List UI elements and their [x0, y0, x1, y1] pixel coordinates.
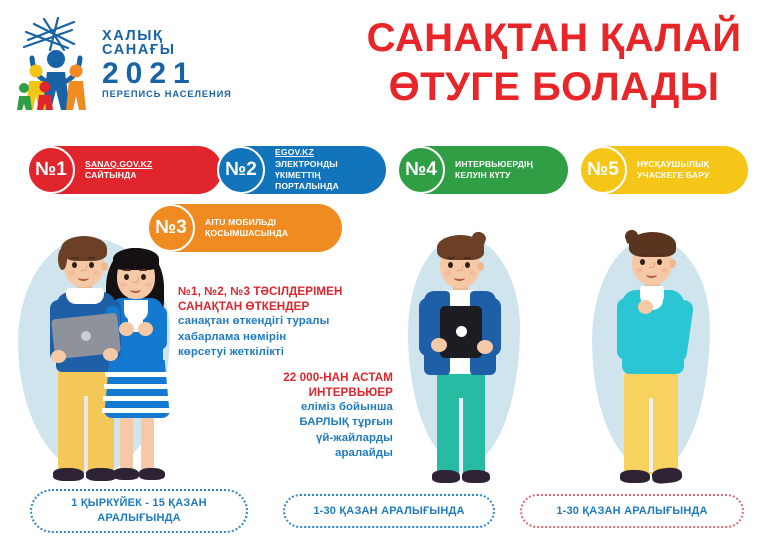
method-line2-1: САЙТЫНДА — [85, 170, 137, 180]
woman1-stripe — [103, 396, 171, 401]
copy2-body-1: еліміз бойынша — [178, 400, 393, 415]
method-line2-5: НҰСҚАУШЫЛЫҚ — [637, 159, 709, 169]
method-badge-5[interactable]: №5 НҰСҚАУШЫЛЫҚ УЧАСКЕГЕ БАРУ — [580, 146, 748, 194]
method-label-1: SANAQ.GOV.KZ САЙТЫНДА — [76, 159, 160, 182]
method-number-2: №2 — [217, 146, 265, 194]
woman1-leg-right — [141, 416, 154, 472]
man3-face — [632, 240, 672, 285]
method-number-1: №1 — [27, 146, 75, 194]
copy1-body-2: хабарлама нөмірін — [178, 330, 393, 345]
logo-year: 2021 — [102, 59, 239, 89]
woman1-leg-left — [120, 416, 133, 472]
man3-leg-split — [649, 398, 653, 472]
man1-hand-right — [103, 348, 118, 361]
woman1-stripe — [104, 384, 170, 389]
woman1-face — [117, 255, 155, 299]
method-number-5: №5 — [579, 146, 627, 194]
man2-shoe-left — [432, 470, 460, 483]
man2-hand-right — [477, 340, 493, 354]
method-line2-4: ИНТЕРВЬЮЕРДІҢ — [455, 159, 533, 169]
tablet-icon — [440, 306, 482, 358]
copy-block-1: №1, №2, №3 ТӘСІЛДЕРІМЕН САНАҚТАН ӨТКЕНДЕ… — [178, 284, 393, 361]
method-link-1[interactable]: SANAQ.GOV.KZ — [85, 159, 152, 169]
man1-face — [64, 243, 104, 288]
man3-hand-left — [638, 300, 653, 314]
method-number-3: №3 — [147, 204, 195, 252]
date-pill-3-text: 1-30 ҚАЗАН АРАЛЫҒЫНДА — [556, 504, 707, 519]
method-badge-3[interactable]: №3 AITU МОБИЛЬДІ ҚОСЫМШАСЫНДА — [148, 204, 342, 252]
copy2-body-4: аралайды — [178, 446, 393, 461]
title-line-1: САНАҚТАН ҚАЛАЙ — [352, 14, 756, 63]
man2-leg-split — [459, 398, 463, 474]
method-link-2[interactable]: EGOV.KZ — [275, 147, 314, 157]
method-label-4: ИНТЕРВЬЮЕРДІҢ КЕЛУІН КҮТУ — [446, 159, 541, 182]
man2-face — [440, 243, 480, 288]
copy2-body-2: БАРЛЫҚ тұрғын — [178, 415, 393, 430]
method-line3-3: ҚОСЫМШАСЫНДА — [205, 228, 288, 238]
logo-line-1: ХАЛЫҚ САНАҒЫ — [102, 29, 239, 58]
woman1-stripe — [105, 372, 169, 377]
method-label-2: EGOV.KZ ЭЛЕКТРОНДЫ ҮКІМЕТТІҢ ПОРТАЛЫНДА — [266, 147, 347, 193]
man1-hand-left — [51, 350, 66, 363]
woman1-shoe-right — [139, 468, 165, 480]
method-line4-2: ПОРТАЛЫНДА — [275, 181, 339, 191]
logo-line-3: ПЕРЕПИСЬ НАСЕЛЕНИЯ — [102, 90, 239, 99]
copy2-body-3: үй-жайларды — [178, 431, 393, 446]
man3-shoe-left — [620, 470, 650, 483]
man3-arm-left — [617, 298, 635, 360]
date-pill-1: 1 ҚЫРКҮЙЕК - 15 ҚАЗАНАРАЛЫҒЫНДА — [30, 489, 248, 533]
copy1-head-1: №1, №2, №3 ТӘСІЛДЕРІМЕН — [178, 284, 393, 299]
method-line2-3: AITU МОБИЛЬДІ — [205, 217, 276, 227]
man2-shoe-right — [462, 470, 490, 483]
man2-hand-left — [431, 338, 447, 352]
woman1-hand-left — [119, 322, 134, 336]
date-pill-2-text: 1-30 ҚАЗАН АРАЛЫҒЫНДА — [313, 504, 464, 519]
man1-leg-split — [84, 396, 88, 472]
man3-shoe-right — [651, 466, 682, 484]
infographic-canvas: ХАЛЫҚ САНАҒЫ 2021 ПЕРЕПИСЬ НАСЕЛЕНИЯ САН… — [0, 0, 768, 543]
method-number-4: №4 — [397, 146, 445, 194]
census-family-logo-icon — [14, 14, 98, 114]
man1-shoe-left — [53, 468, 84, 481]
body-copy: №1, №2, №3 ТӘСІЛДЕРІМЕН САНАҚТАН ӨТКЕНДЕ… — [178, 284, 393, 462]
date-pill-3: 1-30 ҚАЗАН АРАЛЫҒЫНДА — [520, 494, 744, 528]
man1-collar — [66, 288, 104, 304]
logo-wordmark: ХАЛЫҚ САНАҒЫ 2021 ПЕРЕПИСЬ НАСЕЛЕНИЯ — [102, 29, 239, 99]
copy1-body-3: көрсетуі жеткілікті — [178, 345, 393, 360]
date-pill-2: 1-30 ҚАЗАН АРАЛЫҒЫНДА — [283, 494, 495, 528]
date-pill-1-text: 1 ҚЫРКҮЙЕК - 15 ҚАЗАНАРАЛЫҒЫНДА — [71, 496, 207, 526]
method-badge-2[interactable]: №2 EGOV.KZ ЭЛЕКТРОНДЫ ҮКІМЕТТІҢ ПОРТАЛЫН… — [218, 146, 386, 194]
method-label-5: НҰСҚАУШЫЛЫҚ УЧАСКЕГЕ БАРУ — [628, 159, 718, 182]
method-line3-2: ҮКІМЕТТІҢ — [275, 170, 321, 180]
method-badge-4[interactable]: №4 ИНТЕРВЬЮЕРДІҢ КЕЛУІН КҮТУ — [398, 146, 568, 194]
woman1-hand-right — [138, 322, 153, 336]
woman1-shoe-left — [113, 468, 139, 480]
method-line3-5: УЧАСКЕГЕ БАРУ — [637, 170, 710, 180]
census-logo: ХАЛЫҚ САНАҒЫ 2021 ПЕРЕПИСЬ НАСЕЛЕНИЯ — [14, 12, 239, 116]
method-line3-4: КЕЛУІН КҮТУ — [455, 170, 511, 180]
copy1-head-2: САНАҚТАН ӨТКЕНДЕР — [178, 299, 393, 314]
copy2-head-1: 22 000-НАН АСТАМ — [178, 370, 393, 385]
copy-block-2: 22 000-НАН АСТАМ ИНТЕРВЬЮЕР еліміз бойын… — [178, 370, 393, 462]
title-line-2: ӨТУГЕ БОЛАДЫ — [352, 63, 756, 112]
copy2-head-2: ИНТЕРВЬЮЕР — [178, 385, 393, 400]
woman1-stripe — [102, 408, 172, 413]
woman1-arm-right — [152, 306, 167, 350]
copy1-body-1: санақтан өткендігі туралы — [178, 314, 393, 329]
page-title: САНАҚТАН ҚАЛАЙ ӨТУГЕ БОЛАДЫ — [352, 14, 756, 112]
method-line2-2: ЭЛЕКТРОНДЫ — [275, 159, 338, 169]
method-badge-1[interactable]: №1 SANAQ.GOV.KZ САЙТЫНДА — [28, 146, 222, 194]
method-label-3: AITU МОБИЛЬДІ ҚОСЫМШАСЫНДА — [196, 217, 296, 240]
